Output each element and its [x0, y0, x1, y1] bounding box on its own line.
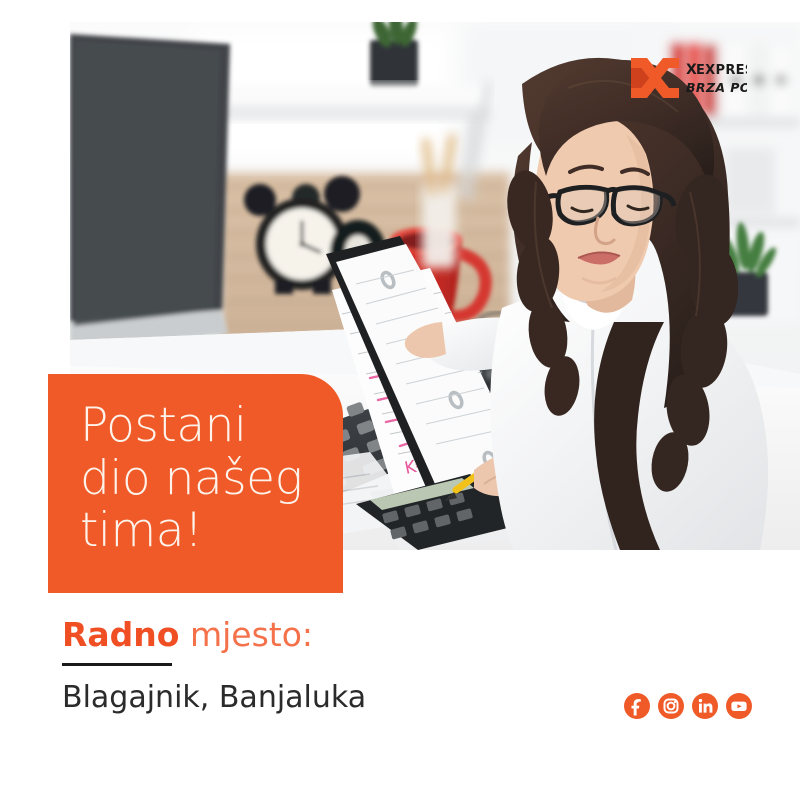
job-divider	[62, 663, 172, 666]
job-info-block: Radno mjesto: Blagajnik, Banjaluka	[62, 618, 482, 715]
headline-panel: Postani dio našeg tima!	[48, 374, 343, 593]
x-express-logo-mark	[631, 58, 679, 98]
instagram-icon[interactable]	[658, 693, 684, 719]
job-label-strong: Radno	[62, 615, 179, 654]
job-position-value: Blagajnik, Banjaluka	[62, 680, 482, 715]
svg-text:BRZA POŠTA: BRZA POŠTA	[686, 80, 747, 95]
linkedin-icon[interactable]	[692, 693, 718, 719]
job-label-light: mjesto:	[179, 615, 313, 654]
x-express-logo: X EXPRESS BRZA POŠTA	[627, 52, 747, 104]
youtube-icon[interactable]	[726, 693, 752, 719]
headline-text: Postani dio našeg tima!	[80, 400, 343, 558]
job-advert-poster: K€	[0, 0, 800, 800]
social-links	[624, 693, 752, 719]
svg-text:EXPRESS: EXPRESS	[696, 63, 747, 78]
facebook-icon[interactable]	[624, 693, 650, 719]
job-label: Radno mjesto:	[62, 618, 482, 651]
